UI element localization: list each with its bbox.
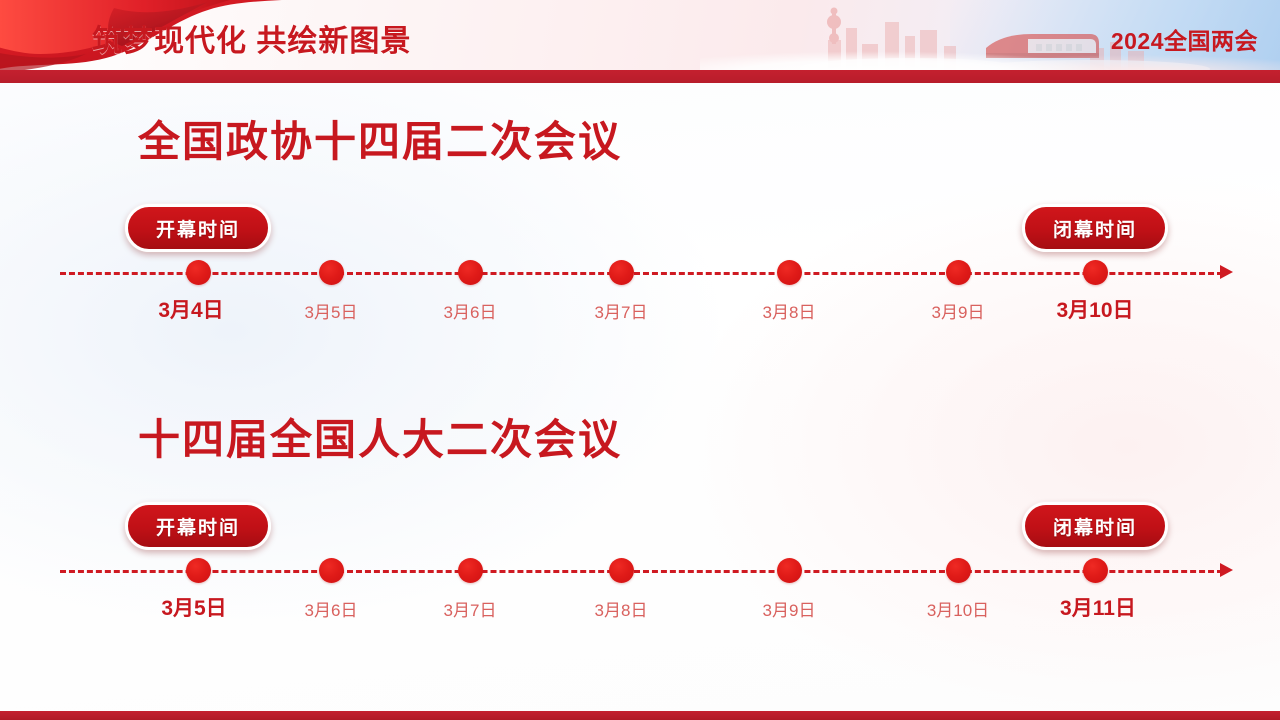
close-time-badge-label: 闭幕时间 <box>1053 215 1137 242</box>
timeline-cppcc: 开幕时间 闭幕时间 3月4日 3月5日 3月6日 3月7日 3月8日 3月9日 … <box>0 204 1280 334</box>
timeline-npc: 开幕时间 闭幕时间 3月5日 3月6日 3月7日 3月8日 3月9日 3月10日… <box>0 502 1280 632</box>
timeline-date-label: 3月11日 <box>998 592 1198 622</box>
timeline-node-dot[interactable] <box>186 558 211 583</box>
open-time-badge[interactable]: 开幕时间 <box>125 204 271 252</box>
page-title: 筑梦现代化 共绘新图景 <box>92 16 411 60</box>
page-header: 筑梦现代化 共绘新图景 2024全国两会 <box>0 0 1280 70</box>
timeline-node-dot[interactable] <box>319 260 344 285</box>
timeline-axis <box>60 570 1223 573</box>
timeline-node-dot[interactable] <box>186 260 211 285</box>
timeline-node-dot[interactable] <box>1083 260 1108 285</box>
timeline-node-dot[interactable] <box>609 260 634 285</box>
header-brand-label: 2024全国两会 <box>1111 22 1258 56</box>
header-divider-bar <box>0 70 1280 83</box>
timeline-node-dot[interactable] <box>458 558 483 583</box>
timeline-node-dot[interactable] <box>777 558 802 583</box>
timeline-node-dot[interactable] <box>458 260 483 285</box>
timeline-arrow-icon <box>1220 265 1233 279</box>
slide-canvas: 筑梦现代化 共绘新图景 2024全国两会 全国政协十四届二次会议 开幕时间 闭幕… <box>0 0 1280 720</box>
open-time-badge-label: 开幕时间 <box>156 215 240 242</box>
timeline-arrow-icon <box>1220 563 1233 577</box>
close-time-badge-label: 闭幕时间 <box>1053 513 1137 540</box>
timeline-node-dot[interactable] <box>946 260 971 285</box>
open-time-badge[interactable]: 开幕时间 <box>125 502 271 550</box>
timeline-date-label: 3月10日 <box>995 294 1195 324</box>
close-time-badge[interactable]: 闭幕时间 <box>1022 204 1168 252</box>
section-title: 十四届全国人大二次会议 <box>138 406 622 467</box>
timeline-node-dot[interactable] <box>1083 558 1108 583</box>
open-time-badge-label: 开幕时间 <box>156 513 240 540</box>
timeline-node-dot[interactable] <box>946 558 971 583</box>
timeline-node-dot[interactable] <box>777 260 802 285</box>
timeline-node-dot[interactable] <box>609 558 634 583</box>
section-title: 全国政协十四届二次会议 <box>138 108 622 169</box>
timeline-node-dot[interactable] <box>319 558 344 583</box>
close-time-badge[interactable]: 闭幕时间 <box>1022 502 1168 550</box>
footer-bar <box>0 711 1280 720</box>
timeline-axis <box>60 272 1223 275</box>
